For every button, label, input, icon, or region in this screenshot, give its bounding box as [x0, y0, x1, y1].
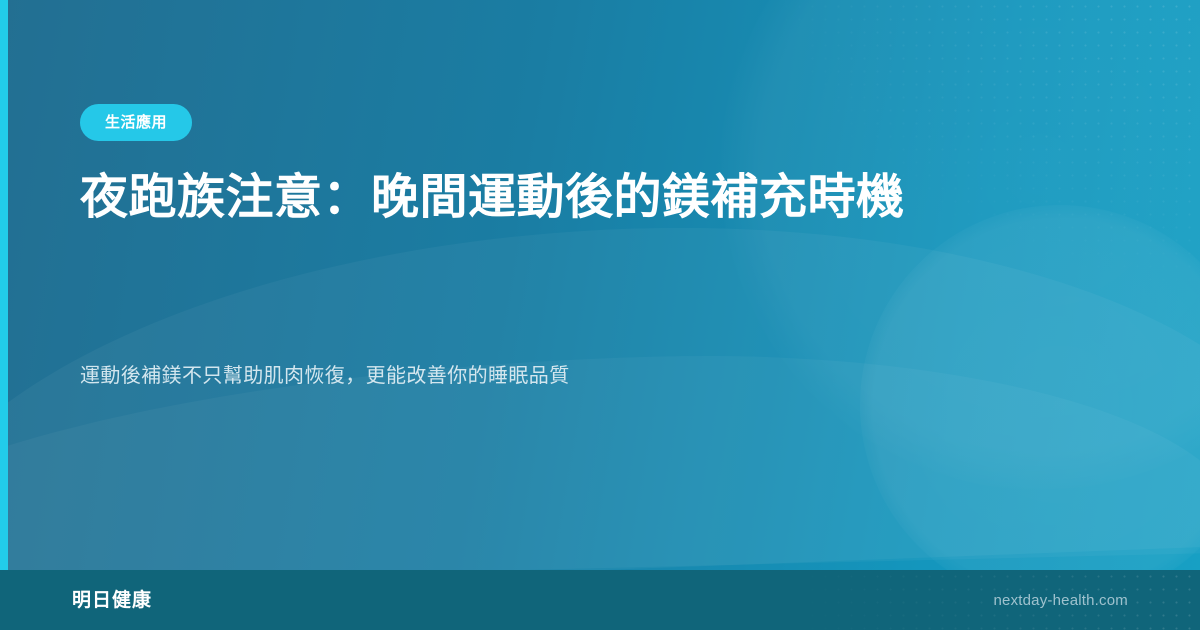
- card-content: 生活應用 夜跑族注意：晚間運動後的鎂補充時機 運動後補鎂不只幫助肌肉恢復，更能改…: [80, 0, 940, 570]
- site-url: nextday-health.com: [993, 593, 1128, 608]
- brand-name: 明日健康: [72, 591, 152, 610]
- page-title: 夜跑族注意：晚間運動後的鎂補充時機: [80, 162, 910, 234]
- card-footer: 明日健康 nextday-health.com: [0, 570, 1200, 630]
- social-share-card: 生活應用 夜跑族注意：晚間運動後的鎂補充時機 運動後補鎂不只幫助肌肉恢復，更能改…: [0, 0, 1200, 630]
- page-subtitle: 運動後補鎂不只幫助肌肉恢復，更能改善你的睡眠品質: [80, 360, 870, 392]
- left-accent-bar: [0, 0, 8, 570]
- category-badge[interactable]: 生活應用: [80, 104, 192, 141]
